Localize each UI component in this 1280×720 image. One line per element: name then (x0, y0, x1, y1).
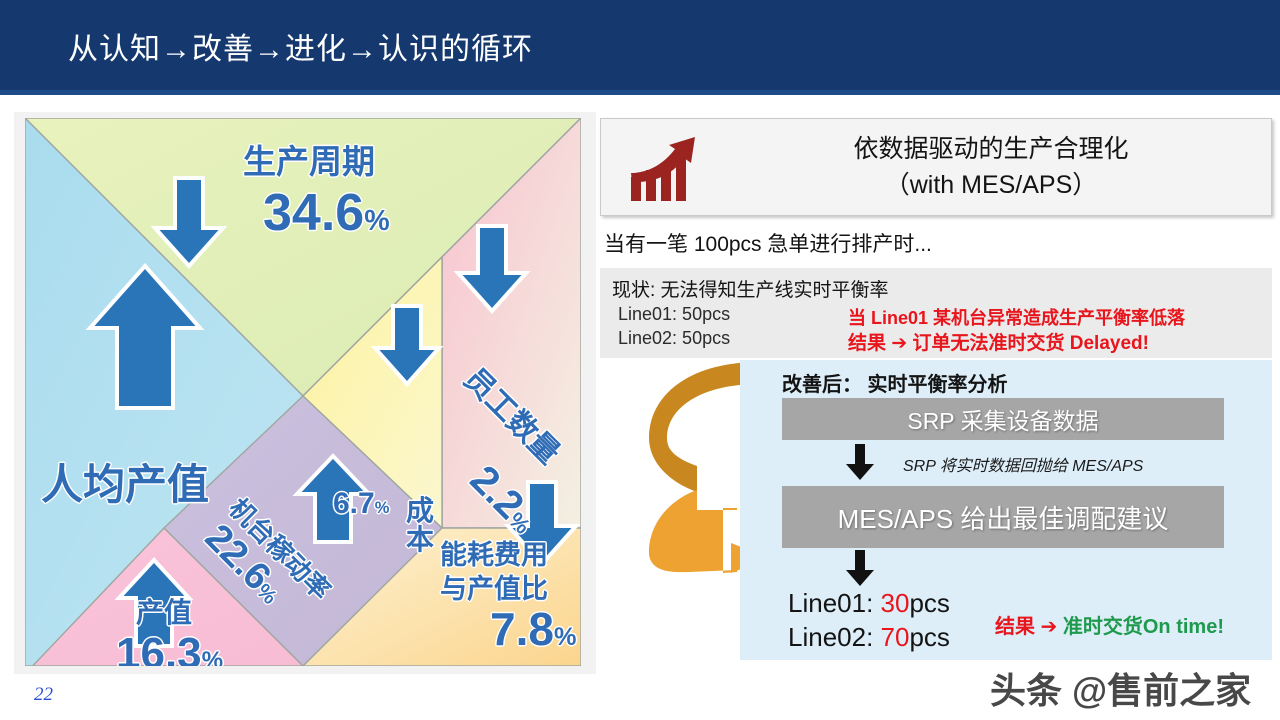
result-prefix: 结果 ➔ (995, 616, 1063, 638)
arrow-down-icon-2 (845, 550, 875, 586)
improvement-panel: 改善后： 实时平衡率分析 SRP 采集设备数据 SRP 将实时数据回抛给 MES… (740, 360, 1272, 660)
right-title-line2: （with MES/APS） (721, 167, 1261, 203)
srp-note: SRP 将实时数据回抛给 MES/APS (903, 452, 1143, 476)
label-output: 产值 (136, 598, 192, 627)
result-line02: Line02: 70pcs (788, 622, 950, 653)
value-cost: 6.7% (333, 488, 389, 520)
tangram-kpi-diagram: 生产周期 34.6% 人均产值 员工数量 2.2% 6.7% 成本 机台稼动率 … (25, 118, 581, 666)
right-title-text: 依数据驱动的生产合理化 （with MES/APS） (721, 131, 1261, 204)
status-warning-2: 结果 ➔ 订单无法准时交货 Delayed! (848, 328, 1149, 355)
status-line02: Line02: 50pcs (618, 328, 730, 349)
label-energy: 能耗费用与产值比 (440, 539, 581, 607)
status-warning-1: 当 Line01 某机台异常造成生产平衡率低落 (848, 304, 1185, 330)
line02-qty: 70 (881, 622, 910, 652)
status-title: 现状: 无法得知生产线实时平衡率 (612, 275, 889, 302)
status-line01: Line01: 50pcs (618, 304, 730, 325)
line01-qty: 30 (881, 588, 910, 618)
result-ontime: 结果 ➔ 准时交货On time! (995, 610, 1224, 639)
value-output: 16.3% (116, 631, 223, 666)
value-cycle: 34.6% (263, 186, 390, 241)
result-line01: Line01: 30pcs (788, 588, 950, 619)
label-perhead: 人均产值 (41, 463, 209, 507)
step-srp-box: SRP 采集设备数据 (782, 398, 1224, 440)
header-accent-line (0, 90, 1280, 95)
label-cost: 成本 (405, 496, 435, 555)
improve-title: 改善后： 实时平衡率分析 (782, 368, 1008, 397)
value-energy: 7.8% (490, 605, 576, 653)
step-mes-box: MES/APS 给出最佳调配建议 (782, 486, 1224, 548)
growth-chart-icon (623, 133, 711, 205)
right-title-line1: 依数据驱动的生产合理化 (721, 131, 1261, 167)
page-number: 22 (34, 684, 53, 706)
right-title-box: 依数据驱动的生产合理化 （with MES/APS） (600, 118, 1272, 216)
page-title: 从认知→改善→进化→认识的循环 (68, 24, 533, 68)
arrow-down-icon-1 (845, 444, 875, 480)
watermark: 头条 @售前之家 (990, 662, 1251, 714)
current-status-box: 现状: 无法得知生产线实时平衡率 Line01: 50pcs Line02: 5… (600, 268, 1272, 358)
lead-line: 当有一笔 100pcs 急单进行排产时... (604, 228, 932, 258)
label-cycle: 生产周期 (243, 145, 375, 180)
result-text: 准时交货On time! (1063, 616, 1224, 638)
